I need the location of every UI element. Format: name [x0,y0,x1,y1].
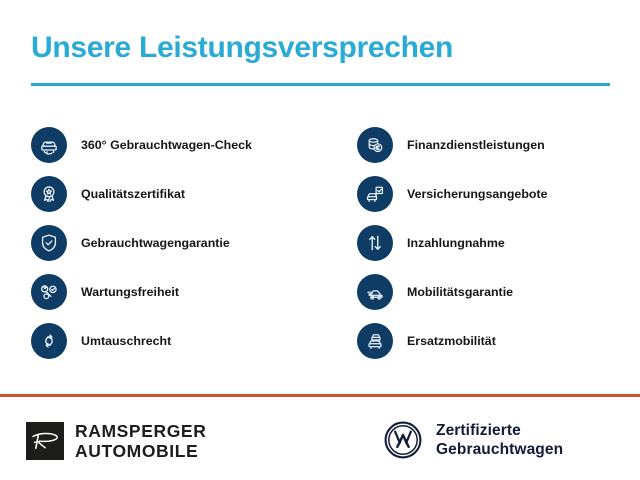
feature-item-versicherungsangebote[interactable]: Versicherungsangebote [357,169,640,218]
shield-check-icon [31,225,67,261]
tow-truck-icon [357,274,393,310]
ramsperger-line-2: AUTOMOBILE [75,441,206,461]
footer: RAMSPERGER AUTOMOBILE Zertifizierte Gebr… [0,397,640,480]
feature-label: Wartungsfreiheit [81,284,179,300]
feature-column-left: 360° Gebrauchtwagen-Check Qualitätszerti… [31,120,331,365]
feature-label: Mobilitätsgarantie [407,284,513,300]
feature-label: Ersatzmobilität [407,333,496,349]
feature-label: Gebrauchtwagengarantie [81,235,230,251]
page-title: Unsere Leistungsversprechen [31,30,453,66]
feature-item-umtauschrecht[interactable]: Umtauschrecht [31,316,331,365]
feature-column-right: Finanzdienstleistungen Versicherungsange… [357,120,640,365]
feature-item-mobilitaetsgarantie[interactable]: Mobilitätsgarantie [357,267,640,316]
feature-label: 360° Gebrauchtwagen-Check [81,137,252,153]
feature-label: Versicherungsangebote [407,186,547,202]
arrows-up-down-icon [357,225,393,261]
ramsperger-line-1: RAMSPERGER [75,421,206,441]
volkswagen-logo [383,420,423,460]
brand-ramsperger[interactable]: RAMSPERGER AUTOMOBILE [26,421,206,461]
feature-label: Finanzdienstleistungen [407,137,545,153]
feature-item-wartungsfreiheit[interactable]: Wartungsfreiheit [31,267,331,316]
feature-label: Umtauschrecht [81,333,171,349]
brand-volkswagen[interactable]: Zertifizierte Gebrauchtwagen [383,420,563,460]
vw-line-1: Zertifizierte [436,421,563,440]
volkswagen-wordmark: Zertifizierte Gebrauchtwagen [436,421,563,459]
feature-item-gebrauchtwagen-check[interactable]: 360° Gebrauchtwagen-Check [31,120,331,169]
feature-label: Qualitätszertifikat [81,186,185,202]
feature-lists: 360° Gebrauchtwagen-Check Qualitätszerti… [0,120,640,375]
exchange-arrows-icon [31,323,67,359]
feature-item-gebrauchtwagengarantie[interactable]: Gebrauchtwagengarantie [31,218,331,267]
feature-item-inzahlungnahme[interactable]: Inzahlungnahme [357,218,640,267]
two-cars-icon [357,323,393,359]
ramsperger-r-logo [26,422,64,460]
car-insurance-icon [357,176,393,212]
feature-item-finanzdienstleistungen[interactable]: Finanzdienstleistungen [357,120,640,169]
feature-label: Inzahlungnahme [407,235,505,251]
coins-euro-icon [357,127,393,163]
feature-item-ersatzmobilitaet[interactable]: Ersatzmobilität [357,316,640,365]
promise-panel: Unsere Leistungsversprechen 360° Gebrauc [0,0,640,480]
car-360-check-icon [31,127,67,163]
feature-item-qualitaetszertifikat[interactable]: Qualitätszertifikat [31,169,331,218]
title-divider [31,83,610,86]
wrench-check-icon [31,274,67,310]
quality-seal-icon [31,176,67,212]
ramsperger-wordmark: RAMSPERGER AUTOMOBILE [75,421,206,461]
vw-line-2: Gebrauchtwagen [436,440,563,459]
